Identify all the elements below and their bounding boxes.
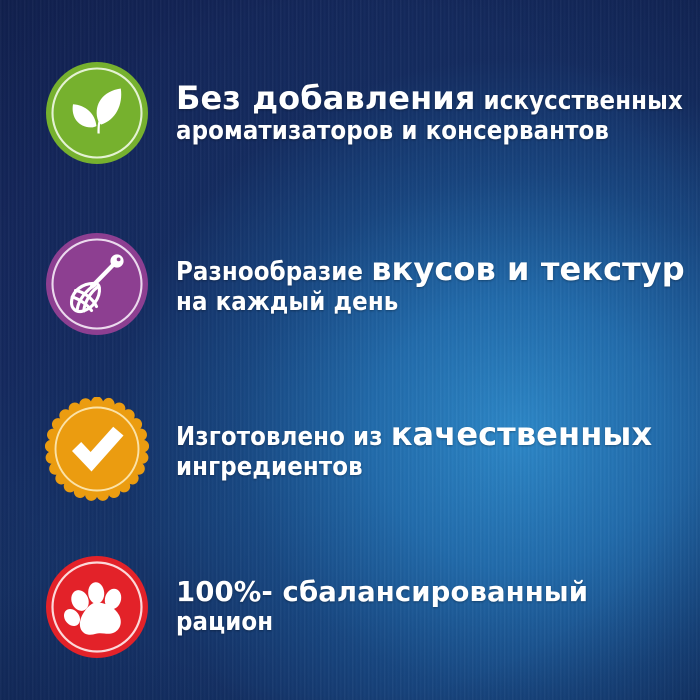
check-badge-icon <box>45 397 149 501</box>
benefit-line-2: рацион <box>176 608 700 637</box>
benefit-line-2: ингредиентов <box>176 453 700 482</box>
benefit-emphasis: качественных <box>391 415 652 453</box>
benefit-line-2: на каждый день <box>176 288 700 317</box>
paw-icon <box>45 555 149 659</box>
benefit-row-variety: Разнообразие вкусов и текстур на каждый … <box>0 229 700 339</box>
benefit-row-balanced: 100%- сбалансированный рацион <box>0 552 700 662</box>
benefit-text-quality: Изготовлено из качественных ингредиентов <box>176 417 700 481</box>
benefit-line-1: Без добавления искусственных <box>176 81 700 117</box>
poster-canvas: Без добавления искусственных ароматизато… <box>0 0 700 700</box>
benefit-line-1: Разнообразие вкусов и текстур <box>176 252 700 288</box>
whisk-icon <box>45 232 149 336</box>
benefit-row-no-additives: Без добавления искусственных ароматизато… <box>0 58 700 168</box>
benefit-line-2: ароматизаторов и консервантов <box>176 117 700 146</box>
benefit-line-1: 100%- сбалансированный <box>176 577 700 608</box>
benefit-lead: Изготовлено из <box>176 422 391 452</box>
benefit-text-balanced: 100%- сбалансированный рацион <box>176 577 700 636</box>
benefit-rest: искусственных <box>475 86 682 116</box>
benefit-text-no-additives: Без добавления искусственных ароматизато… <box>176 81 700 145</box>
benefit-list: Без добавления искусственных ароматизато… <box>0 0 700 700</box>
benefit-emphasis: Без добавления <box>176 79 475 117</box>
benefit-text-variety: Разнообразие вкусов и текстур на каждый … <box>176 252 700 316</box>
leaf-icon <box>45 61 149 165</box>
benefit-emphasis: вкусов и текстур <box>371 250 685 288</box>
benefit-line-1: Изготовлено из качественных <box>176 417 700 453</box>
benefit-lead: Разнообразие <box>176 257 371 287</box>
benefit-row-quality: Изготовлено из качественных ингредиентов <box>0 393 700 505</box>
